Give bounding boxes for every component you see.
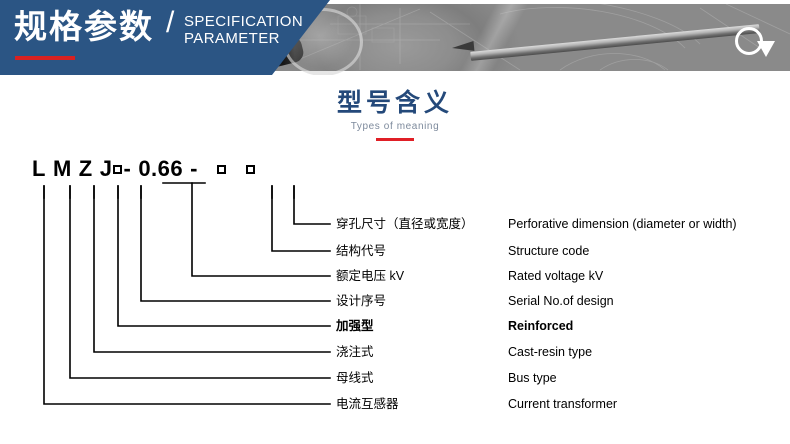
legend-row-en-3: Rated voltage kV <box>508 269 603 283</box>
legend-row-en-7: Bus type <box>508 371 557 385</box>
legend-row-cn-5: 加强型 <box>336 319 374 333</box>
header-title-en-line1: SPECIFICATION <box>184 13 303 30</box>
legend-row-cn-3: 额定电压 kV <box>336 269 404 283</box>
legend-row-en-5: Reinforced <box>508 319 573 333</box>
legend-row-en-4: Serial No.of design <box>508 294 614 308</box>
legend-row-en-1: Perforative dimension (diameter or width… <box>508 217 737 231</box>
header-title-en-line2: PARAMETER <box>184 30 303 47</box>
section-title-cn: 型号含义 <box>0 88 790 118</box>
model-designation-diagram: LMZJ-0.66- <box>0 150 790 430</box>
section-title-block: 型号含义 Types of meaning <box>0 88 790 141</box>
legend-row-cn-8: 电流互感器 <box>336 397 399 411</box>
legend-row-en-8: Current transformer <box>508 397 617 411</box>
section-title-en: Types of meaning <box>0 119 790 134</box>
header-title-separator: / <box>166 8 174 38</box>
legend-row-cn-6: 浇注式 <box>336 345 374 359</box>
header-title-cn: 规格参数 <box>14 10 154 43</box>
legend-row-cn-7: 母线式 <box>336 371 374 385</box>
legend-row-cn-2: 结构代号 <box>336 244 386 258</box>
legend-row-cn-1: 穿孔尺寸（直径或宽度） <box>336 217 474 231</box>
legend-row-en-6: Cast-resin type <box>508 345 592 359</box>
page-header: 规格参数 / SPECIFICATION PARAMETER <box>0 0 790 75</box>
header-title-en: SPECIFICATION PARAMETER <box>184 13 303 47</box>
legend-row-cn-4: 设计序号 <box>336 294 386 308</box>
legend-row-en-2: Structure code <box>508 244 589 258</box>
leader-lines <box>0 150 790 430</box>
header-accent-underline <box>15 56 75 60</box>
section-title-rule <box>376 138 414 141</box>
caret-down-icon <box>757 41 775 57</box>
